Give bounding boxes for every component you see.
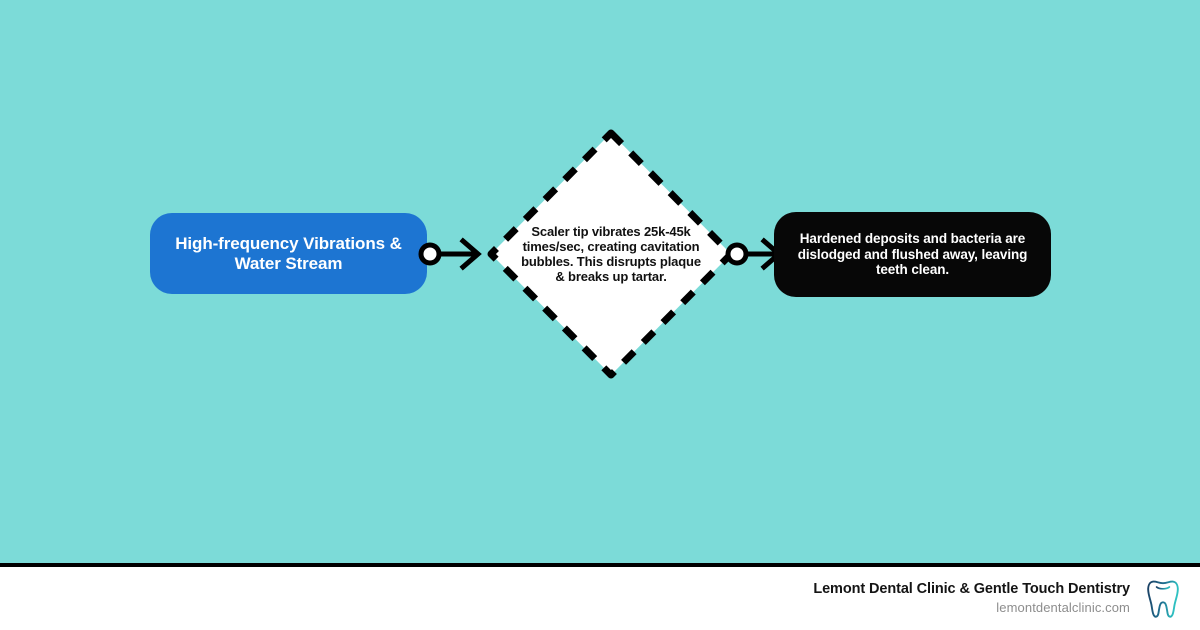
flow-node-process-label: Scaler tip vibrates 25k-45k times/sec, c… [521,224,701,284]
flowchart-stage: High-frequency Vibrations & Water Stream… [0,0,1200,563]
flow-node-process[interactable]: Scaler tip vibrates 25k-45k times/sec, c… [485,127,737,381]
infographic-canvas: High-frequency Vibrations & Water Stream… [0,0,1200,630]
flow-node-start[interactable]: High-frequency Vibrations & Water Stream [150,213,427,294]
connector-start-to-process [418,231,494,277]
footer-text-block: Lemont Dental Clinic & Gentle Touch Dent… [813,580,1130,616]
clinic-name: Lemont Dental Clinic & Gentle Touch Dent… [813,580,1130,598]
flow-node-end[interactable]: Hardened deposits and bacteria are dislo… [774,212,1051,297]
tooth-icon [1146,578,1180,620]
footer-brand-group: Lemont Dental Clinic & Gentle Touch Dent… [813,567,1180,630]
clinic-website[interactable]: lemontdentalclinic.com [813,600,1130,616]
flow-node-end-label: Hardened deposits and bacteria are dislo… [788,231,1037,278]
flow-node-start-label: High-frequency Vibrations & Water Stream [168,234,409,272]
footer-bar: Lemont Dental Clinic & Gentle Touch Dent… [0,563,1200,630]
